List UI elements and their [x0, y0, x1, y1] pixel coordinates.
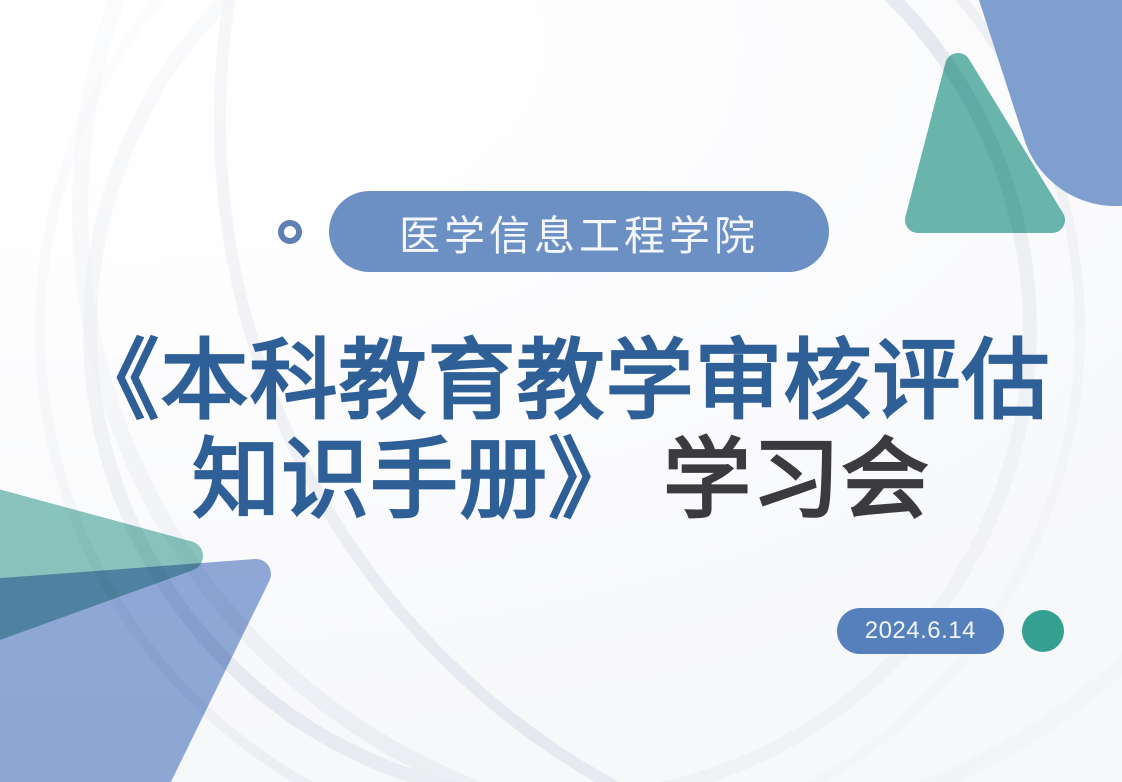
date-badge: 2024.6.14 [837, 608, 1004, 654]
organization-pill: 医学信息工程学院 [329, 191, 829, 272]
circle-outline-icon [278, 220, 302, 244]
title-line-2-accent: 知识手册》 [192, 430, 637, 529]
title-slide: 医学信息工程学院 《本科教育教学审核评估 知识手册》学习会 2024.6.14 [0, 0, 1122, 782]
teal-dot-icon [1022, 610, 1064, 652]
organization-row: 医学信息工程学院 [278, 191, 829, 272]
title-line-2: 知识手册》学习会 [0, 431, 1122, 530]
title-line-1: 《本科教育教学审核评估 [0, 332, 1122, 431]
date-row: 2024.6.14 [837, 608, 1064, 654]
title-line-2-secondary: 学习会 [663, 430, 930, 529]
page-title: 《本科教育教学审核评估 知识手册》学习会 [0, 332, 1122, 529]
slide-content: 医学信息工程学院 《本科教育教学审核评估 知识手册》学习会 2024.6.14 [0, 0, 1122, 782]
